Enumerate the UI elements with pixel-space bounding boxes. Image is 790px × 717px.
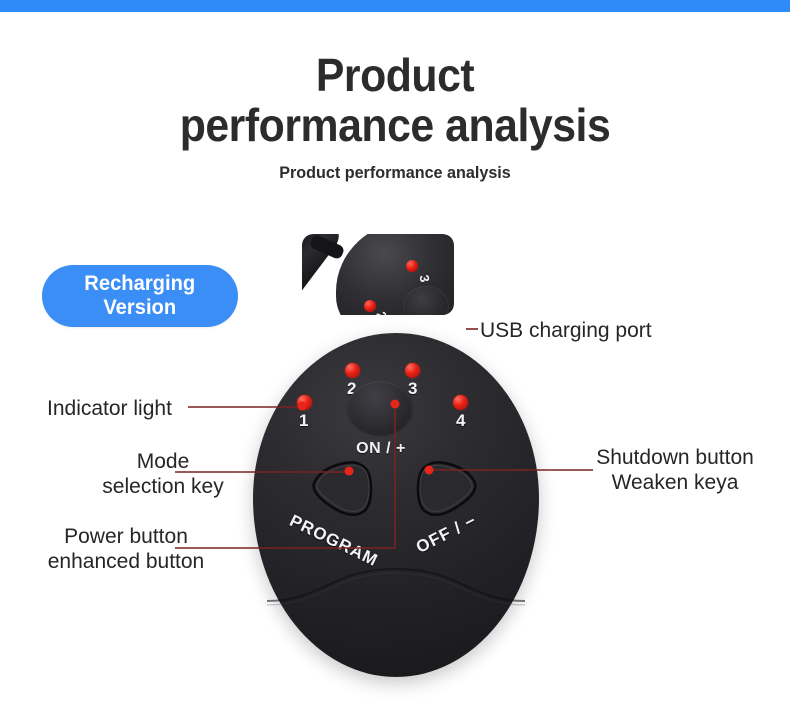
callout-power-line-2: enhanced button xyxy=(48,550,204,573)
callout-mode-selection-key: Mode selection key xyxy=(75,449,251,499)
callout-mode-line-2: selection key xyxy=(102,475,223,498)
top-accent-bar xyxy=(0,0,790,12)
callout-power-line-1: Power button xyxy=(64,525,188,548)
closeup-led-2 xyxy=(364,300,376,312)
led-indicator-1 xyxy=(297,395,312,410)
badge-line-1: Recharging xyxy=(85,272,196,295)
badge-text: Recharging Version xyxy=(85,272,196,320)
led-label-1: 1 xyxy=(299,411,308,431)
power-button-label: ON / + xyxy=(338,440,424,458)
power-button[interactable] xyxy=(348,381,412,434)
led-indicator-4 xyxy=(453,395,468,410)
callout-shutdown-line-1: Shutdown button xyxy=(596,446,754,469)
off-button[interactable] xyxy=(410,457,488,521)
callout-mode-line-1: Mode xyxy=(137,450,190,473)
callout-power-button: Power button enhanced button xyxy=(22,524,230,574)
program-button[interactable] xyxy=(301,457,379,521)
led-label-4: 4 xyxy=(456,411,465,431)
title-line-1: Product xyxy=(28,52,763,98)
callout-usb-charging-port: USB charging port xyxy=(480,318,652,343)
usb-port-closeup-image: 3 2 xyxy=(302,234,454,315)
led-indicator-2 xyxy=(345,363,360,378)
callout-shutdown-line-2: Weaken keya xyxy=(612,471,739,494)
page-title: Product performance analysis xyxy=(0,52,790,150)
title-line-2: performance analysis xyxy=(28,100,763,150)
recharging-version-badge: Recharging Version xyxy=(42,265,238,327)
closeup-led-3 xyxy=(406,260,418,272)
badge-line-2: Version xyxy=(104,296,177,319)
program-button-shape xyxy=(301,457,379,521)
callout-indicator-light: Indicator light xyxy=(47,396,172,421)
off-button-shape xyxy=(410,457,488,521)
page-subtitle: Product performance analysis xyxy=(20,163,771,183)
callout-shutdown-button: Shutdown button Weaken keya xyxy=(566,445,784,495)
infographic-page: Product performance analysis Product per… xyxy=(0,0,790,717)
usb-port-closeup-frame: 3 2 xyxy=(299,231,457,318)
led-indicator-3 xyxy=(405,363,420,378)
device-illustration: 1 2 3 4 ON / + PROGRAM OFF / − xyxy=(253,333,539,677)
led-label-3: 3 xyxy=(408,379,417,399)
